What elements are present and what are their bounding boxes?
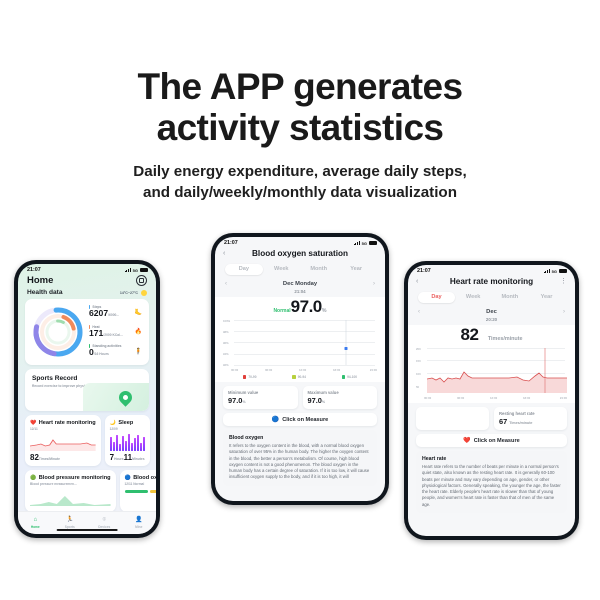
x-tick: 12:00 <box>299 368 306 372</box>
phone-home-screen: 21:07 5G Home Health data 14°C~27°C <box>14 260 160 538</box>
period-segmented-control[interactable]: Day Week Month Year <box>417 290 566 305</box>
status-bar: 21:07 5G <box>408 265 575 275</box>
stat-value: 171 <box>89 328 103 338</box>
prev-date-button[interactable]: ‹ <box>418 309 420 315</box>
tab-sports[interactable]: 🏃 Sports <box>53 517 88 529</box>
tab-day[interactable]: Day <box>225 264 262 275</box>
tab-year[interactable]: Year <box>337 264 374 275</box>
reading-panel: Normal97.0% 100% 98% 96% 94% 92% 00:00 0… <box>215 297 385 382</box>
y-tick: 50 <box>416 385 419 389</box>
legend-label: 94-100 <box>347 375 357 379</box>
signal-bars-icon <box>354 241 360 245</box>
stat-unit: /6000... <box>108 313 119 317</box>
reading-unit: Times/minute <box>488 336 523 342</box>
chart-legend: 70-90 90-94 94-100 <box>225 375 375 379</box>
heart-rate-range-card: Heart rate range 66-94 Times/minute <box>416 407 489 430</box>
scan-icon[interactable] <box>136 275 147 286</box>
battery-icon <box>140 268 148 272</box>
kebab-menu-icon[interactable]: ⋮ <box>557 279 567 284</box>
card-value: 97.0 <box>308 396 322 405</box>
sun-icon <box>141 290 147 296</box>
headline-line-2: activity statistics <box>0 107 600 148</box>
x-tick: 12:00 <box>490 396 497 400</box>
activity-rings <box>32 306 84 358</box>
resting-heart-rate-card: Resting heart rate 67 Times/minute <box>494 407 567 430</box>
measure-button[interactable]: 🔵 Click on Measure <box>223 413 377 426</box>
person-icon: 👤 <box>135 517 142 523</box>
x-tick: 18:00 <box>523 396 530 400</box>
info-heading: Blood oxygen <box>229 435 371 441</box>
battery-icon <box>559 269 567 273</box>
card-label: Heart rate range <box>421 411 484 416</box>
blood-oxygen-segments <box>125 490 156 493</box>
card-unit: % <box>242 400 245 404</box>
mini-card-date: 12/11 <box>30 427 96 431</box>
home-title: Home <box>27 275 53 286</box>
y-tick: 94% <box>223 352 229 356</box>
flame-icon: 🔥 <box>135 329 142 335</box>
legend-item: 90-94 <box>292 375 306 379</box>
mini-card-unit-2: Minutes <box>132 457 144 461</box>
measure-label: Click on Measure <box>282 417 328 423</box>
x-tick: 00:00 <box>231 368 238 372</box>
heart-rate-data-series <box>427 348 567 393</box>
blood-oxygen-card[interactable]: 🔵 Blood oxygen saturation 12/11 Normal <box>120 470 156 512</box>
tab-devices[interactable]: ⌾ Devices <box>87 517 122 529</box>
status-time: 21:07 <box>27 267 41 273</box>
blood-pressure-sparkline <box>30 489 111 506</box>
card-value: 66-94 <box>421 417 440 426</box>
phone-blood-oxygen-screen: 21:07 5G ‹ Blood oxygen saturation Day W… <box>211 233 389 505</box>
y-tick: 100% <box>223 319 230 323</box>
blood-pressure-card[interactable]: 🟢 Blood pressure monitoring Blood pressu… <box>25 470 116 512</box>
mini-card-title: Blood pressure monitoring <box>39 475 111 481</box>
card-unit: % <box>322 400 325 404</box>
chevron-left-icon[interactable]: ‹ <box>223 250 233 257</box>
period-segmented-control[interactable]: Day Week Month Year <box>224 262 376 277</box>
heart-rate-chart: 200 150 100 50 00:00 06:00 12:00 18:00 2… <box>416 348 567 400</box>
tab-mine[interactable]: 👤 Mine <box>122 517 157 529</box>
spo2-data-series <box>234 320 376 365</box>
legend-label: 90-94 <box>298 375 306 379</box>
card-value: 97.0 <box>228 396 242 405</box>
sleep-card[interactable]: 🌙 Sleep 12/09 7Hours11Minutes <box>105 415 150 466</box>
prev-date-button[interactable]: ‹ <box>225 281 227 287</box>
stat-unit: /2000 KCal... <box>103 333 122 337</box>
reading-value-block: Normal97.0% <box>215 297 385 317</box>
watch-icon: ⌾ <box>102 517 106 523</box>
next-date-button[interactable]: › <box>373 281 375 287</box>
headline-block: The APP generates activity statistics Da… <box>0 66 600 203</box>
info-panel: Heart rate Heart rate refers to the numb… <box>416 451 567 512</box>
y-tick: 92% <box>223 363 229 367</box>
x-tick: 06:00 <box>265 368 272 372</box>
card-unit: Times/minute <box>442 421 465 425</box>
current-date: Dec Monday <box>283 281 317 287</box>
status-time: 21:07 <box>417 268 431 274</box>
nav-bar: ‹ Heart rate monitoring ⋮ <box>408 275 575 290</box>
heart-icon: ❤️ <box>463 438 470 444</box>
sports-record-title: Sports Record <box>32 375 142 382</box>
home-icon: ⌂ <box>33 517 37 523</box>
reading-value: 97.0 <box>291 297 322 316</box>
measure-label: Click on Measure <box>474 438 520 444</box>
reading-panel: 82 Times/minute 200 150 100 50 00:00 06:… <box>408 325 575 403</box>
measure-time: 21:04 <box>215 289 385 294</box>
x-tick: 24:00 <box>560 396 567 400</box>
card-label: Maximum value <box>308 390 373 395</box>
reading-value-block: 82 Times/minute <box>408 325 575 345</box>
subheadline-line-2: and daily/weekly/monthly data visualizat… <box>0 182 600 203</box>
battery-icon <box>369 241 377 245</box>
sports-record-card[interactable]: Sports Record Record exercise to improve… <box>25 369 149 411</box>
mini-card-value-2: 11 <box>124 453 132 462</box>
tab-home[interactable]: ⌂ Home <box>18 517 53 529</box>
info-body: It refers to the oxygen content in the b… <box>229 443 371 480</box>
y-tick: 96% <box>223 341 229 345</box>
heart-rate-card[interactable]: ❤️ Heart rate monitoring 12/11 82Times/M… <box>25 415 101 466</box>
x-tick: 00:00 <box>424 396 431 400</box>
drop-blue-icon: 🔵 <box>272 417 279 423</box>
heart-icon: ❤️ <box>30 421 36 426</box>
nav-bar: ‹ Blood oxygen saturation <box>215 247 385 262</box>
drop-green-icon: 🟢 <box>30 476 36 481</box>
signal-bars-icon <box>544 269 550 273</box>
reading-unit: % <box>322 308 327 314</box>
moon-icon: 🌙 <box>110 421 116 426</box>
home-header: Home <box>18 274 156 289</box>
sleep-bars <box>110 434 145 451</box>
home-screen: 21:07 5G Home Health data 14°C~27°C <box>18 264 156 534</box>
network-label: 5G <box>362 241 367 246</box>
activity-summary-card[interactable]: Steps 6207/6000... 🦶 Heat 171/2000 KCal.… <box>25 299 149 365</box>
info-heading: Heart rate <box>422 456 561 462</box>
network-label: 5G <box>133 268 138 273</box>
subheadline: Daily energy expenditure, average daily … <box>0 161 600 203</box>
card-label: Resting heart rate <box>499 411 562 416</box>
heart-rate-screen: 21:07 5G ‹ Heart rate monitoring ⋮ Day W… <box>408 265 575 536</box>
stat-row: Standing activities 0/16 Hours 🧍 <box>89 344 142 359</box>
heart-rate-sparkline <box>30 434 96 451</box>
subheadline-line-1: Daily energy expenditure, average daily … <box>0 161 600 182</box>
maximum-value-card: Maximum value 97.0% <box>303 386 378 409</box>
stat-unit: /16 Hours <box>94 352 109 356</box>
mini-card-date: Blood pressure measuremen... <box>30 482 111 486</box>
health-data-header: Health data 14°C~27°C <box>18 289 156 299</box>
y-tick: 100 <box>416 372 421 376</box>
mini-card-unit: Hours <box>114 457 124 461</box>
mini-card-title: Sleep <box>118 420 133 426</box>
tab-year[interactable]: Year <box>528 292 565 303</box>
weather-temp: 14°C~27°C <box>120 291 138 295</box>
tab-week[interactable]: Week <box>455 292 492 303</box>
mini-card-value: 82 <box>30 453 39 462</box>
reading-value: 82 <box>460 325 478 344</box>
health-data-label: Health data <box>27 289 63 296</box>
mini-card-row: 🟢 Blood pressure monitoring Blood pressu… <box>25 470 149 512</box>
legend-label: 70-90 <box>248 375 256 379</box>
minimum-value-card: Minimum value 97.0% <box>223 386 298 409</box>
chevron-left-icon[interactable]: ‹ <box>416 278 426 285</box>
headline-line-1: The APP generates <box>138 66 463 107</box>
drop-blue-icon: 🔵 <box>125 476 131 481</box>
weather-widget: 14°C~27°C <box>120 290 147 296</box>
x-tick: 18:00 <box>333 368 340 372</box>
card-label: Minimum value <box>228 390 293 395</box>
tab-month[interactable]: Month <box>300 264 337 275</box>
blood-oxygen-screen: 21:07 5G ‹ Blood oxygen saturation Day W… <box>215 237 385 501</box>
mini-card-date: 12/11 Normal <box>125 482 156 486</box>
y-tick: 98% <box>223 330 229 334</box>
mini-card-row: ❤️ Heart rate monitoring 12/11 82Times/M… <box>25 415 149 466</box>
y-tick: 150 <box>416 359 421 363</box>
tab-day[interactable]: Day <box>418 292 455 303</box>
card-value: 67 <box>499 417 507 426</box>
mini-card-title: Blood oxygen saturation <box>133 475 156 481</box>
footprint-icon: 🦶 <box>135 310 142 316</box>
stat-row: Heat 171/2000 KCal... 🔥 <box>89 325 142 340</box>
date-navigator: ‹ Dec › <box>408 305 575 315</box>
hr-summary-cards: Heart rate range 66-94 Times/minute Rest… <box>416 407 567 430</box>
screen-title: Blood oxygen saturation <box>233 249 367 258</box>
screen-title: Heart rate monitoring <box>426 277 557 286</box>
info-body: Heart rate refers to the number of beats… <box>422 464 561 507</box>
current-date: Dec <box>486 309 497 315</box>
x-tick: 06:00 <box>457 396 464 400</box>
stats-list: Steps 6207/6000... 🦶 Heat 171/2000 KCal.… <box>84 305 142 359</box>
mini-card-date: 12/09 <box>110 427 145 431</box>
status-badge: Normal <box>273 308 290 314</box>
sports-icon: 🏃 <box>66 517 73 523</box>
tab-month[interactable]: Month <box>492 292 529 303</box>
stat-value: 6207 <box>89 308 108 318</box>
next-date-button[interactable]: › <box>563 309 565 315</box>
measure-time: 20:20 <box>408 317 575 322</box>
phone-heart-rate-screen: 21:07 5G ‹ Heart rate monitoring ⋮ Day W… <box>404 261 579 540</box>
info-panel: Blood oxygen It refers to the oxygen con… <box>223 430 377 485</box>
x-tick: 24:00 <box>370 368 377 372</box>
tab-label: Mine <box>135 525 142 529</box>
route-map <box>83 383 149 411</box>
page-title: The APP generates activity statistics <box>0 66 600 148</box>
stat-row: Steps 6207/6000... 🦶 <box>89 305 142 320</box>
status-time: 21:07 <box>224 240 238 246</box>
legend-item: 70-90 <box>243 375 257 379</box>
min-max-cards: Minimum value 97.0% Maximum value 97.0% <box>223 386 377 409</box>
home-indicator <box>57 529 118 531</box>
status-bar: 21:07 5G <box>18 264 156 274</box>
legend-item: 94-100 <box>342 375 357 379</box>
signal-bars-icon <box>125 268 131 272</box>
tab-label: Home <box>31 525 40 529</box>
spo2-chart: 100% 98% 96% 94% 92% 00:00 06:00 12:00 1… <box>223 320 377 372</box>
y-tick: 200 <box>416 347 421 351</box>
stand-icon: 🧍 <box>135 349 142 355</box>
tab-week[interactable]: Week <box>263 264 300 275</box>
status-bar: 21:07 5G <box>215 237 385 247</box>
mini-card-unit: Times/Minute <box>39 457 60 461</box>
mini-card-title: Heart rate monitoring <box>39 420 96 426</box>
measure-button[interactable]: ❤️ Click on Measure <box>416 434 567 447</box>
date-navigator: ‹ Dec Monday › <box>215 277 385 287</box>
network-label: 5G <box>552 269 557 274</box>
card-unit: Times/minute <box>509 421 532 425</box>
